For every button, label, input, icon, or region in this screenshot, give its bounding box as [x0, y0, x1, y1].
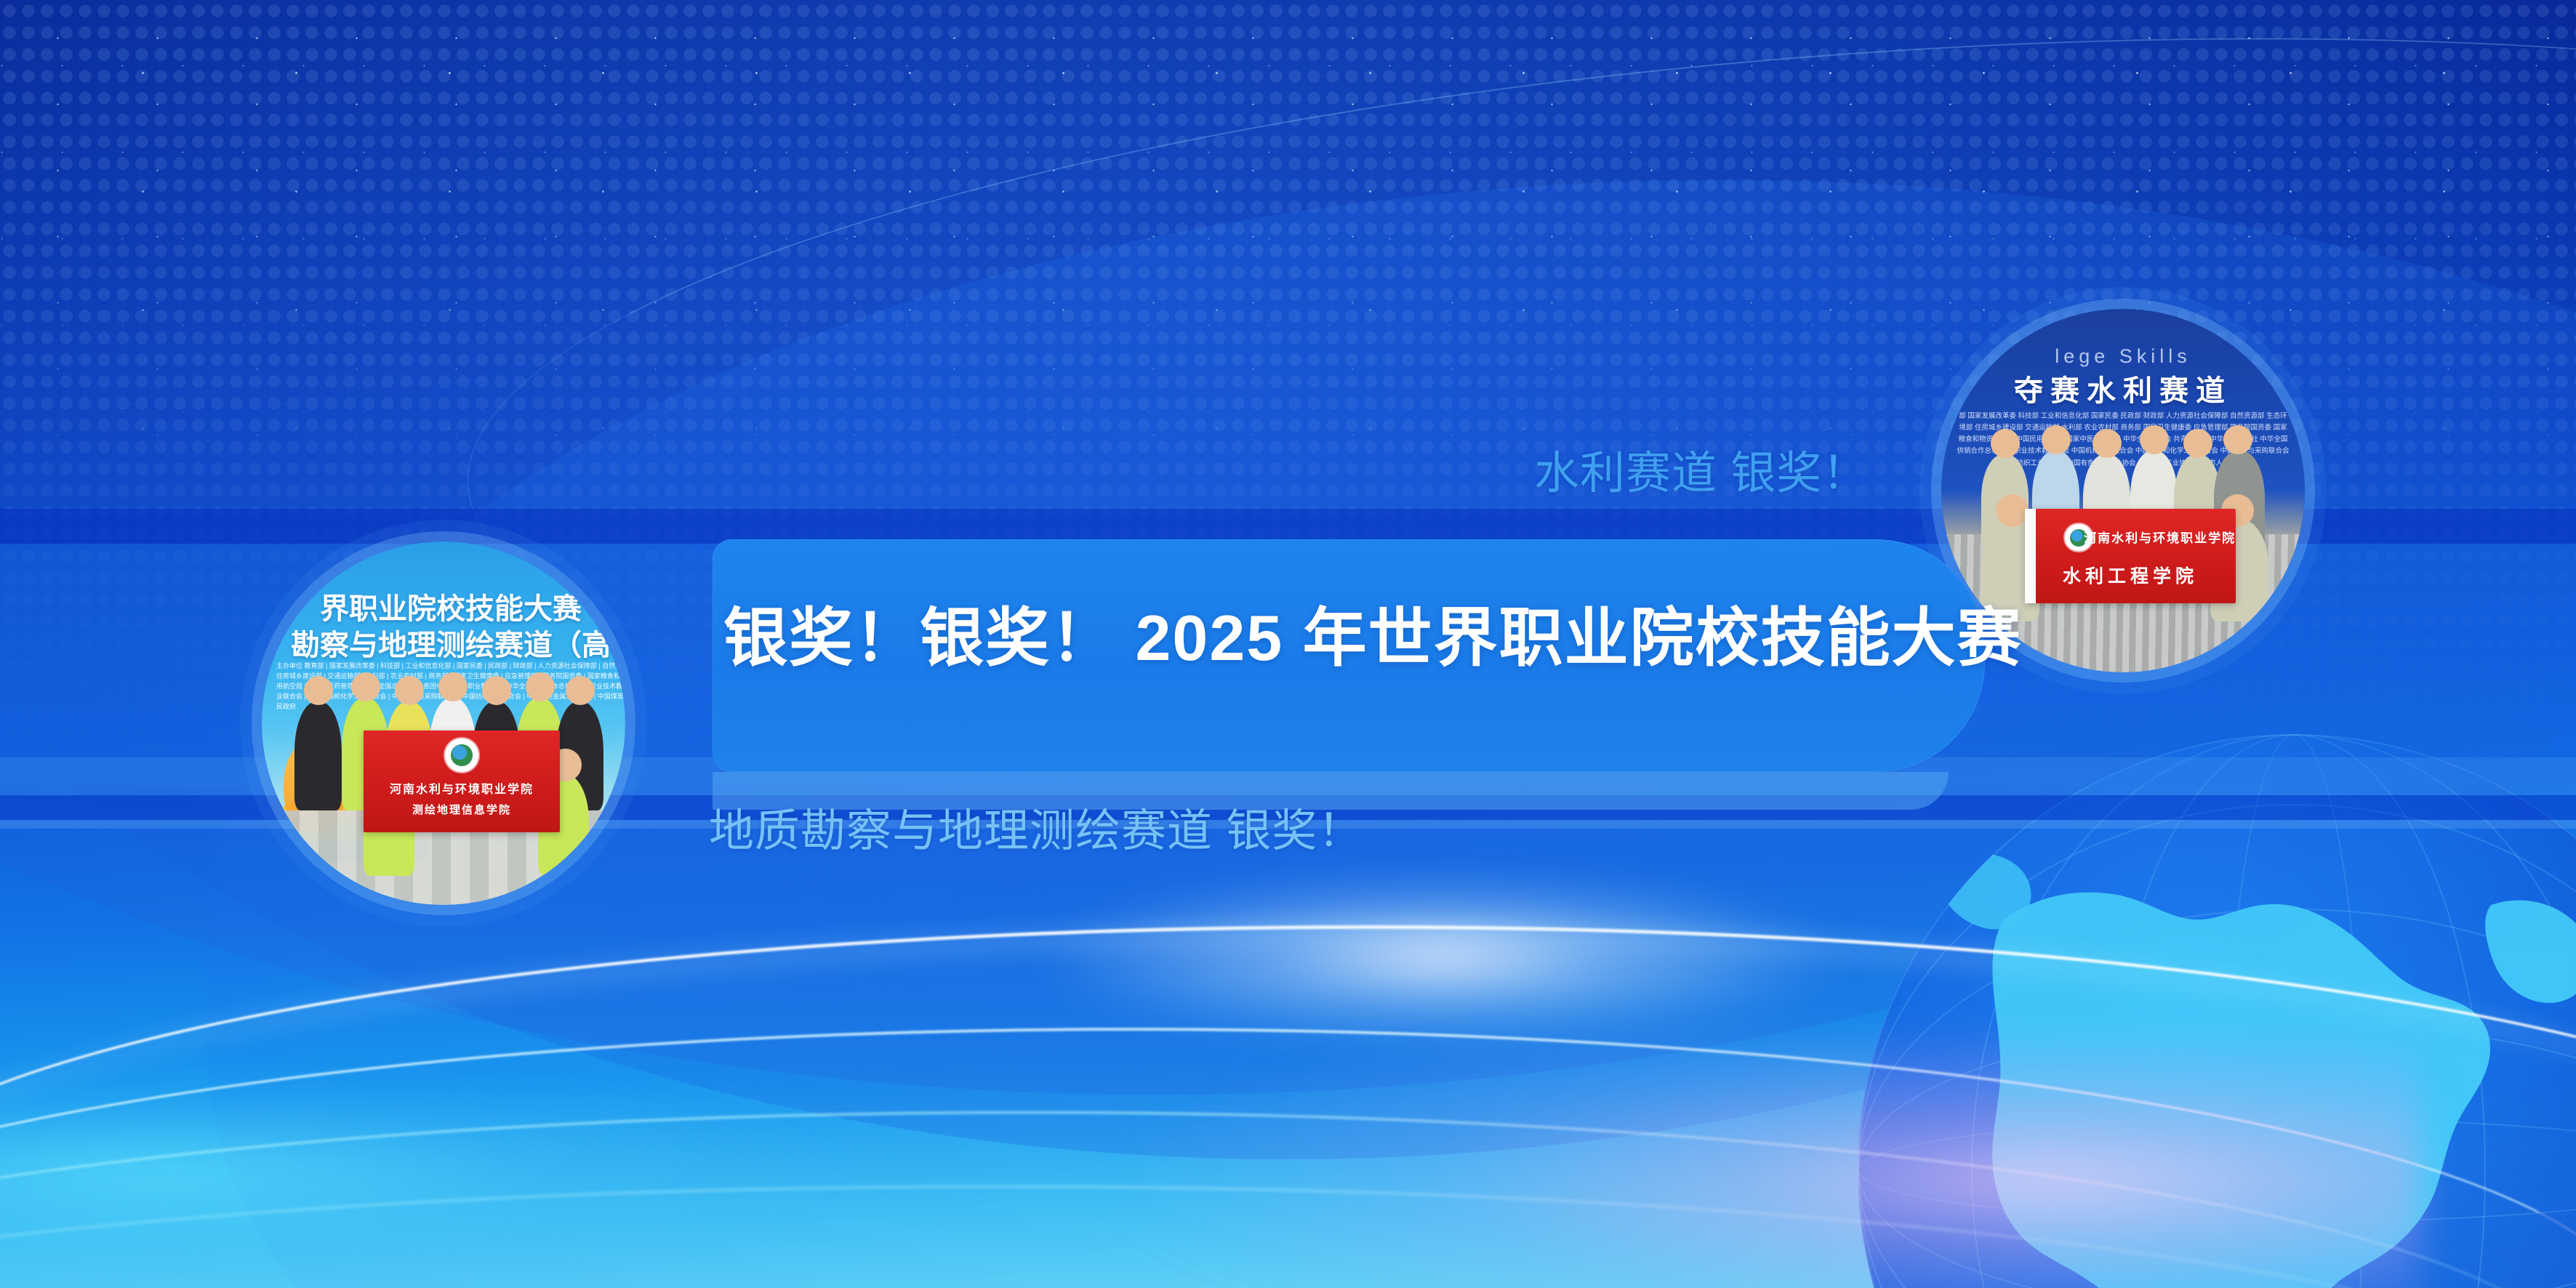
person-head	[2223, 425, 2252, 454]
team-banner-flag-right: 河南水利与环境职业学院 水利工程学院	[2025, 509, 2236, 603]
flag-school-name: 河南水利与环境职业学院	[2084, 528, 2227, 546]
person-head	[526, 672, 555, 701]
flag-college-name: 水利工程学院	[2025, 562, 2236, 588]
person-head	[304, 676, 333, 705]
pink-glow	[1082, 1037, 2421, 1288]
photo-left-backdrop-line2: 勘察与地理测绘赛道（高	[262, 621, 625, 664]
photo-right-backdrop-english: lege Skills	[1941, 345, 2305, 368]
photo-geology-surveying-team[interactable]: 界职业院校技能大赛 勘察与地理测绘赛道（高 主办单位 教育部 | 国家发展改革委…	[262, 542, 625, 905]
team-banner-flag-left: 河南水利与环境职业学院 测绘地理信息学院	[364, 730, 560, 832]
banner-stage: 水利赛道 银奖！ lege Skills 夺赛水利赛道 部 国家发展改革委 科技…	[0, 0, 2576, 1288]
person-head	[2140, 425, 2169, 454]
page-title: 银奖！银奖！ 2025 年世界职业院校技能大赛	[723, 603, 1989, 674]
subtitle-water-conservancy-track: 水利赛道 银奖！	[1534, 436, 1868, 502]
flag-school-name: 河南水利与环境职业学院	[364, 779, 560, 797]
person-head	[482, 676, 511, 705]
school-emblem-icon	[445, 738, 478, 772]
subtitle-geology-surveying-track: 地质勘察与地理测绘赛道 银奖！	[709, 794, 1363, 859]
person-head	[395, 676, 424, 705]
person-head	[1996, 494, 2029, 527]
person-head	[2093, 429, 2122, 458]
person-head	[2042, 425, 2071, 454]
person-head	[2183, 429, 2212, 458]
person-head	[1991, 429, 2020, 458]
flag-edge	[2025, 509, 2036, 603]
person	[294, 701, 342, 810]
flag-college-name: 测绘地理信息学院	[364, 802, 560, 817]
white-highlight-glow	[979, 860, 1906, 1055]
person-head	[438, 672, 468, 701]
person-head	[351, 672, 380, 701]
photo-right-backdrop-chinese: 夺赛水利赛道	[1941, 367, 2305, 409]
person-head	[566, 676, 595, 705]
